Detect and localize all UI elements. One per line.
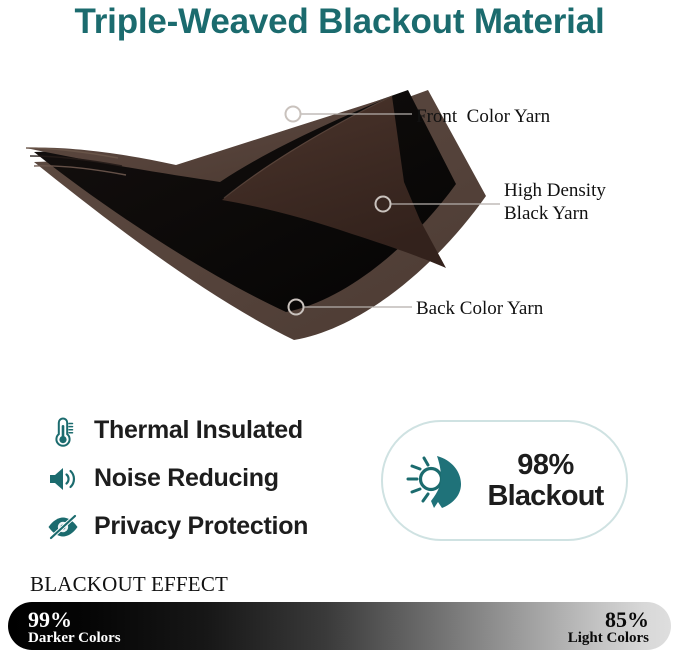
- blackout-badge: 98% Blackout: [381, 420, 628, 541]
- callout-label-middle: High Density Black Yarn: [504, 179, 606, 225]
- blackout-effect-left-group: 99% Darker Colors: [28, 608, 121, 647]
- feature-item-noise: Noise Reducing: [44, 456, 374, 501]
- blackout-effect-title: BLACKOUT EFFECT: [30, 572, 228, 597]
- blackout-word: Blackout: [487, 481, 603, 512]
- blackout-effect-right-caption: Light Colors: [568, 631, 649, 647]
- blackout-badge-text: 98% Blackout: [487, 450, 603, 511]
- blackout-effect-gradient-bar: 99% Darker Colors 85% Light Colors: [8, 602, 671, 650]
- callout-label-back: Back Color Yarn: [416, 297, 543, 320]
- feature-list: Thermal Insulated Noise Reducing Privacy…: [44, 408, 374, 552]
- thermometer-icon: [44, 412, 82, 450]
- feature-label-noise: Noise Reducing: [94, 464, 279, 493]
- feature-item-thermal: Thermal Insulated: [44, 408, 374, 453]
- speaker-sound-icon: [44, 460, 82, 498]
- page-title: Triple-Weaved Blackout Material: [0, 2, 679, 42]
- circle-marker-icon: [376, 197, 391, 212]
- blackout-effect-right-group: 85% Light Colors: [568, 608, 649, 647]
- eye-slash-icon: [44, 508, 82, 546]
- feature-label-privacy: Privacy Protection: [94, 512, 308, 541]
- feature-item-privacy: Privacy Protection: [44, 504, 374, 549]
- callout-label-front: Front Color Yarn: [416, 105, 550, 128]
- blackout-effect-right-percent: 85%: [568, 608, 649, 631]
- blackout-effect-left-caption: Darker Colors: [28, 631, 121, 647]
- circle-marker-icon: [289, 300, 304, 315]
- feature-label-thermal: Thermal Insulated: [94, 416, 303, 445]
- circle-marker-icon: [286, 107, 301, 122]
- sun-blocked-icon: [405, 446, 477, 516]
- blackout-percent: 98%: [487, 450, 603, 481]
- blackout-effect-left-percent: 99%: [28, 608, 121, 631]
